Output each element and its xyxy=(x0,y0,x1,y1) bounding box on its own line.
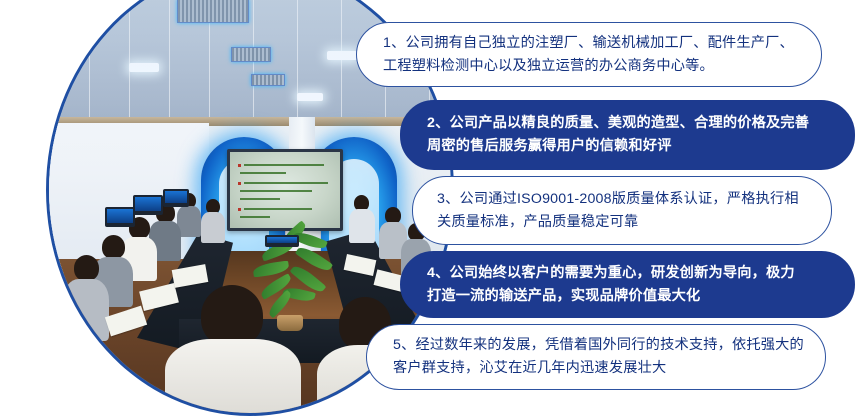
callout-text-2: 2、公司产品以精良的质量、美观的造型、合理的价格及完善 周密的售后服务赢得用户的… xyxy=(427,112,809,158)
ceiling-light-2 xyxy=(327,51,357,60)
person-far-right-1 xyxy=(349,195,375,243)
projector-screen xyxy=(227,149,343,231)
ceiling-light-1 xyxy=(129,63,159,72)
desk-monitor-2 xyxy=(163,189,189,207)
projector-device xyxy=(265,235,299,247)
ceiling-vent-2 xyxy=(231,47,271,62)
ceiling-vent-3 xyxy=(251,74,285,86)
person-far-left-1 xyxy=(201,199,225,243)
person-near-4 xyxy=(63,255,109,341)
callout-item-2: 2、公司产品以精良的质量、美观的造型、合理的价格及完善 周密的售后服务赢得用户的… xyxy=(400,100,855,170)
person-foreground-center xyxy=(165,285,301,413)
callout-item-1: 1、公司拥有自己独立的注塑厂、输送机械加工厂、配件生产厂、 工程塑料检测中心以及… xyxy=(356,22,822,87)
callout-text-3: 3、公司通过ISO9001-2008版质量体系认证，严格执行相 关质量标准，产品… xyxy=(437,188,799,234)
ceiling-vent-1 xyxy=(177,0,249,23)
ceiling-light-3 xyxy=(297,93,323,101)
callout-item-3: 3、公司通过ISO9001-2008版质量体系认证，严格执行相 关质量标准，产品… xyxy=(412,176,832,245)
callout-text-1: 1、公司拥有自己独立的注塑厂、输送机械加工厂、配件生产厂、 工程塑料检测中心以及… xyxy=(383,32,794,78)
callout-text-4: 4、公司始终以客户的需要为重心，研发创新为导向，极力 打造一流的输送产品，实现品… xyxy=(427,262,795,308)
desk-monitor-1 xyxy=(133,195,163,215)
desk-monitor-3 xyxy=(105,207,135,227)
callout-item-4: 4、公司始终以客户的需要为重心，研发创新为导向，极力 打造一流的输送产品，实现品… xyxy=(400,251,855,318)
callout-item-5: 5、经过数年来的发展，凭借着国外同行的技术支持，依托强大的 客户群支持，沁艾在近… xyxy=(366,324,826,390)
callout-text-5: 5、经过数年来的发展，凭借着国外同行的技术支持，依托强大的 客户群支持，沁艾在近… xyxy=(393,334,804,380)
